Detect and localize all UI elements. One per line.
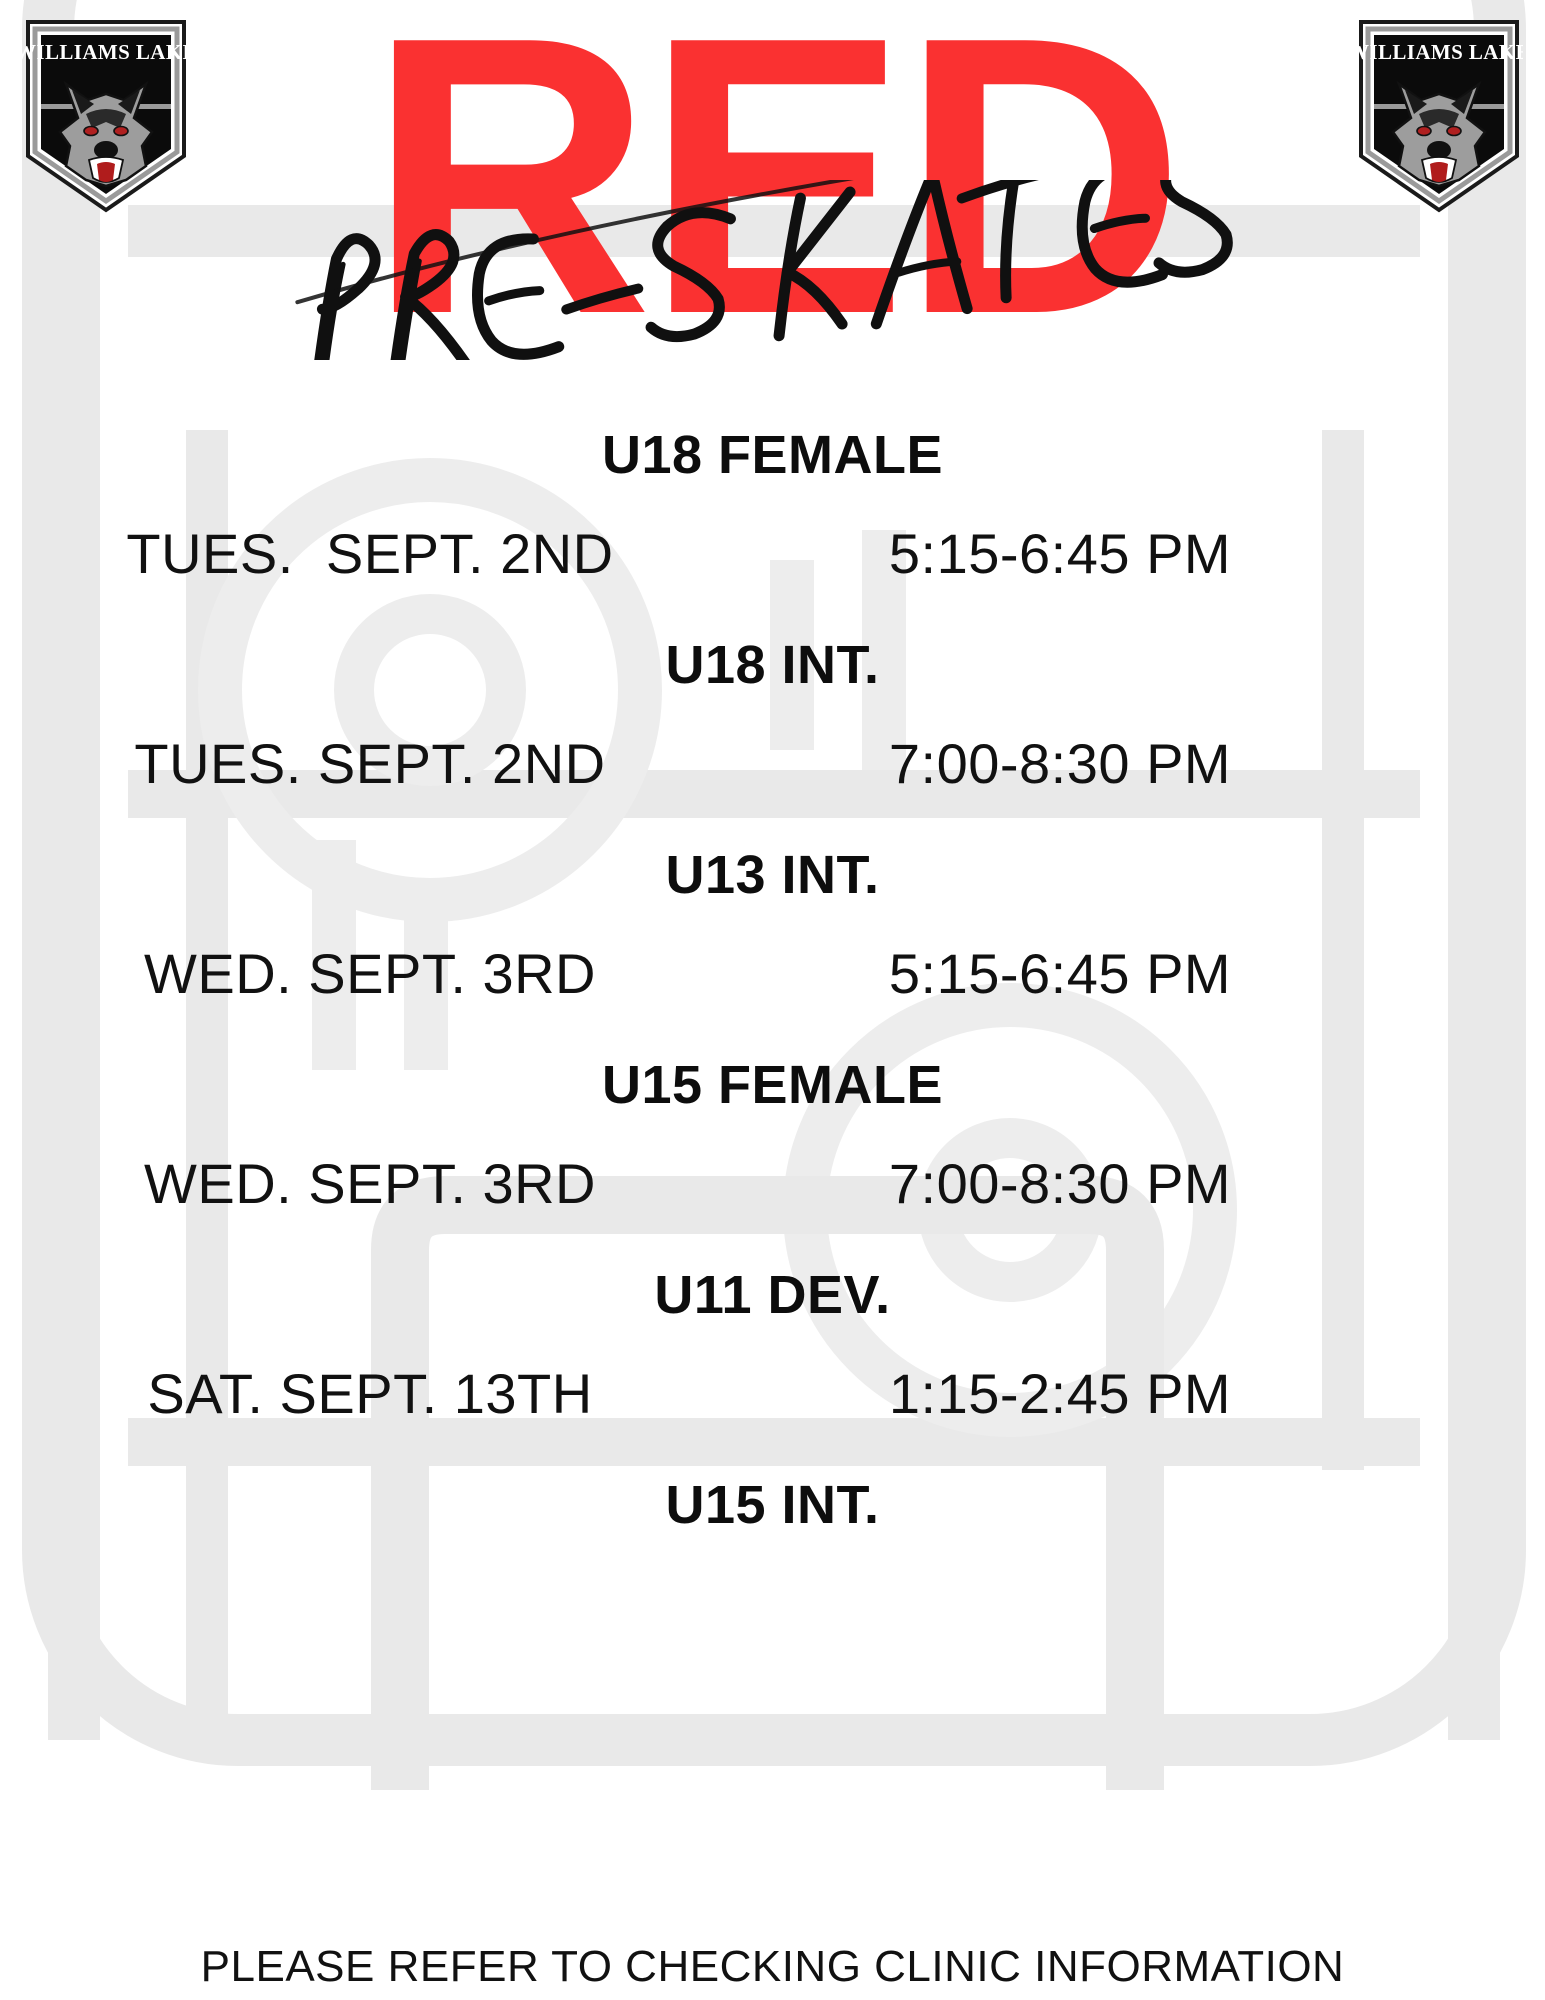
schedule-date: WED. SEPT. 3RD [0, 946, 740, 1002]
crest-text-right: WILLIAMS LAKE [1355, 40, 1523, 64]
schedule-line: WED. SEPT. 3RD 7:00-8:30 PM [0, 1156, 1545, 1212]
crest-text-left: WILLIAMS LAKE [22, 40, 190, 64]
division-label: U15 FEMALE [0, 1058, 1545, 1112]
schedule-date: TUES. SEPT. 2ND [0, 526, 740, 582]
division-label: U13 INT. [0, 848, 1545, 902]
schedule-row: U11 DEV. SAT. SEPT. 13TH 1:15-2:45 PM [0, 1268, 1545, 1422]
schedule-row: U18 FEMALE TUES. SEPT. 2ND 5:15-6:45 PM [0, 400, 1545, 582]
schedule-list: U18 FEMALE TUES. SEPT. 2ND 5:15-6:45 PM … [0, 400, 1545, 1588]
division-label: U15 INT. [0, 1478, 1545, 1532]
schedule-date: SAT. SEPT. 13TH [0, 1366, 740, 1422]
schedule-time: 7:00-8:30 PM [740, 736, 1380, 792]
schedule-row: U13 INT. WED. SEPT. 3RD 5:15-6:45 PM [0, 848, 1545, 1002]
schedule-time: 1:15-2:45 PM [740, 1366, 1380, 1422]
schedule-row: U18 INT. TUES. SEPT. 2ND 7:00-8:30 PM [0, 638, 1545, 792]
schedule-row: U15 INT. [0, 1478, 1545, 1532]
williams-lake-wolves-crest-left: WILLIAMS LAKE [22, 18, 190, 214]
schedule-line: TUES. SEPT. 2ND 5:15-6:45 PM [0, 526, 1545, 582]
schedule-time: 5:15-6:45 PM [740, 526, 1380, 582]
williams-lake-wolves-crest-right: WILLIAMS LAKE [1355, 18, 1523, 214]
schedule-row: U15 FEMALE WED. SEPT. 3RD 7:00-8:30 PM [0, 1058, 1545, 1212]
poster-title-block: RED [0, 0, 1545, 400]
schedule-time: 5:15-6:45 PM [740, 946, 1380, 1002]
footer-note: PLEASE REFER TO CHECKING CLINIC INFORMAT… [0, 1942, 1545, 1992]
schedule-date: TUES. SEPT. 2ND [0, 736, 740, 792]
wolf-head-icon [1393, 84, 1485, 186]
pre-skates-script-lettering [263, 180, 1283, 360]
title-word-pre-skates [0, 180, 1545, 360]
schedule-line: TUES. SEPT. 2ND 7:00-8:30 PM [0, 736, 1545, 792]
division-label: U18 FEMALE [0, 428, 1545, 482]
division-label: U11 DEV. [0, 1268, 1545, 1322]
division-label: U18 INT. [0, 638, 1545, 692]
schedule-line: WED. SEPT. 3RD 5:15-6:45 PM [0, 946, 1545, 1002]
schedule-time: 7:00-8:30 PM [740, 1156, 1380, 1212]
schedule-line: SAT. SEPT. 13TH 1:15-2:45 PM [0, 1366, 1545, 1422]
wolf-head-icon [60, 84, 152, 186]
schedule-date: WED. SEPT. 3RD [0, 1156, 740, 1212]
